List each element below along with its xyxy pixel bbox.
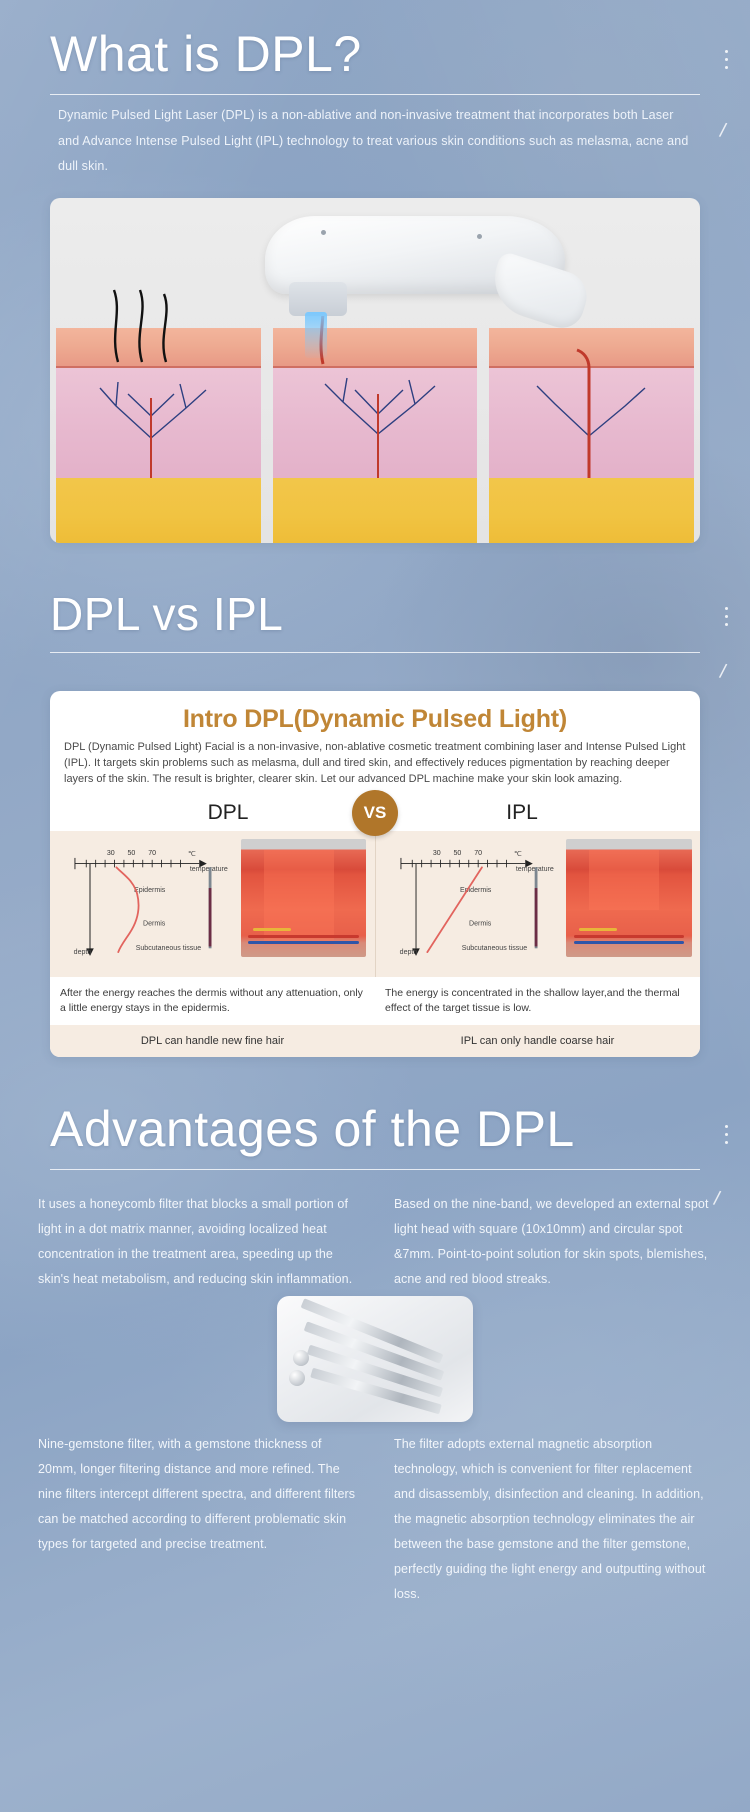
advantage-col-4: The filter adopts external magnetic abso… <box>394 1432 712 1607</box>
label-ipl: IPL <box>392 801 652 825</box>
what-is-dpl-paragraph: Dynamic Pulsed Light Laser (DPL) is a no… <box>0 95 750 180</box>
skin-panel-3 <box>489 328 694 543</box>
section-title-dpl-vs-ipl: DPL vs IPL <box>50 589 700 641</box>
svg-text:70: 70 <box>148 850 156 857</box>
panel-footers: DPL can handle new fine hair IPL can onl… <box>50 1025 700 1057</box>
ipl-energy-beam <box>589 850 659 910</box>
section-advantages: Advantages of the DPL It uses a honeycom… <box>0 1057 750 1647</box>
advantages-top-row: It uses a honeycomb filter that blocks a… <box>0 1170 750 1292</box>
vessel-yellow <box>253 928 291 931</box>
chart-ipl-svg: 30 50 70 ℃ temperature Epidermis Dermis … <box>384 839 563 971</box>
what-is-dpl-header: What is DPL? <box>0 26 750 95</box>
footer-dpl: DPL can handle new fine hair <box>50 1025 375 1057</box>
advantage-text-4: The filter adopts external magnetic abso… <box>394 1432 712 1607</box>
section-what-is-dpl: What is DPL? Dynamic Pulsed Light Laser … <box>0 0 750 543</box>
vertical-dots-icon[interactable] <box>725 607 728 626</box>
svg-text:Dermis: Dermis <box>143 921 166 928</box>
slash-icon: / <box>718 661 728 685</box>
infographic-title: Intro DPL(Dynamic Pulsed Light) <box>50 691 700 740</box>
chart-ipl: 30 50 70 ℃ temperature Epidermis Dermis … <box>384 839 563 971</box>
caption-dpl: After the energy reaches the dermis with… <box>50 977 375 1024</box>
page-title: What is DPL? <box>50 26 700 82</box>
ipl-skin-cross-photo <box>566 839 692 957</box>
hero-illustration <box>50 198 700 543</box>
svg-text:℃: ℃ <box>188 851 196 858</box>
advantage-text-2: Based on the nine-band, we developed an … <box>394 1192 712 1292</box>
vs-badge: VS <box>352 790 398 836</box>
comparison-labels: DPL VS IPL <box>50 795 700 831</box>
svg-text:Subcutaneous tissue: Subcutaneous tissue <box>461 945 527 952</box>
chart-dpl: 30 50 70 ℃ temperature Epidermis Dermis … <box>58 839 237 971</box>
infographic-body: DPL (Dynamic Pulsed Light) Facial is a n… <box>50 740 700 795</box>
dpl-skin-photo <box>237 839 367 971</box>
skin-cross-section-panels <box>50 328 700 543</box>
caption-ipl: The energy is concentrated in the shallo… <box>375 977 700 1024</box>
vessel-yellow <box>579 928 617 931</box>
advantage-col-3: Nine-gemstone filter, with a gemstone th… <box>38 1432 356 1607</box>
svg-text:50: 50 <box>453 850 461 857</box>
comparison-panels: 30 50 70 ℃ temperature Epidermis Dermis … <box>50 831 700 977</box>
advantages-bottom-row: Nine-gemstone filter, with a gemstone th… <box>0 1422 750 1647</box>
page-root: What is DPL? Dynamic Pulsed Light Laser … <box>0 0 750 1812</box>
vessel-blue <box>248 941 359 944</box>
hair-follicles-1 <box>56 284 261 364</box>
skin-panel-2 <box>273 328 478 543</box>
light-beam <box>305 312 327 358</box>
chart-dpl-svg: 30 50 70 ℃ temperature Epidermis Dermis … <box>58 839 237 971</box>
panel-captions: After the energy reaches the dermis with… <box>50 977 700 1024</box>
section-title-advantages: Advantages of the DPL <box>50 1101 700 1157</box>
ipl-skin-photo <box>562 839 692 971</box>
section-dpl-vs-ipl: DPL vs IPL / Intro DPL(Dynamic Pulsed Li… <box>0 543 750 1057</box>
filter-knob <box>293 1350 309 1366</box>
section-divider <box>50 1169 700 1170</box>
dpl-vs-ipl-header: DPL vs IPL <box>0 589 750 654</box>
footer-ipl: IPL can only handle coarse hair <box>375 1025 700 1057</box>
vessel-red <box>248 935 359 938</box>
vessel-tree-3 <box>489 328 694 543</box>
handpiece-indicator-dot <box>477 234 482 239</box>
handpiece-indicator-dot <box>321 230 326 235</box>
svg-text:30: 30 <box>432 850 440 857</box>
gemstone-filter-photo <box>277 1296 473 1422</box>
svg-text:70: 70 <box>474 850 482 857</box>
dpl-energy-beam <box>264 850 334 946</box>
svg-text:depth: depth <box>74 949 92 956</box>
svg-text:Dermis: Dermis <box>469 921 492 928</box>
skin-panel-1 <box>56 328 261 543</box>
label-dpl: DPL <box>98 801 358 825</box>
panel-ipl: 30 50 70 ℃ temperature Epidermis Dermis … <box>376 831 701 977</box>
svg-text:Epidermis: Epidermis <box>134 887 166 894</box>
dpl-handpiece <box>265 212 595 342</box>
svg-text:30: 30 <box>107 850 115 857</box>
advantage-text-3: Nine-gemstone filter, with a gemstone th… <box>38 1432 356 1557</box>
filter-knob <box>289 1370 305 1386</box>
svg-text:℃: ℃ <box>513 851 521 858</box>
advantage-col-2: / Based on the nine-band, we developed a… <box>394 1192 712 1292</box>
panel-dpl: 30 50 70 ℃ temperature Epidermis Dermis … <box>50 831 375 977</box>
title-divider <box>50 94 700 95</box>
infographic-card: Intro DPL(Dynamic Pulsed Light) DPL (Dyn… <box>50 691 700 1056</box>
svg-text:Subcutaneous tissue: Subcutaneous tissue <box>136 945 202 952</box>
slash-icon: / <box>712 1187 722 1211</box>
advantages-header: Advantages of the DPL <box>0 1101 750 1170</box>
svg-text:50: 50 <box>128 850 136 857</box>
handpiece-grip <box>485 250 594 333</box>
vessel-red <box>574 935 685 938</box>
dpl-skin-cross-photo <box>241 839 367 957</box>
advantage-text-1: It uses a honeycomb filter that blocks a… <box>38 1192 356 1292</box>
vertical-dots-icon[interactable] <box>725 1125 728 1144</box>
vertical-dots-icon[interactable] <box>725 50 728 69</box>
svg-text:depth: depth <box>399 949 417 956</box>
filter-photo-container <box>0 1296 750 1422</box>
vessel-blue <box>574 941 685 944</box>
section-divider <box>50 652 700 653</box>
advantage-col-1: It uses a honeycomb filter that blocks a… <box>38 1192 356 1292</box>
handpiece-tip <box>289 282 347 316</box>
